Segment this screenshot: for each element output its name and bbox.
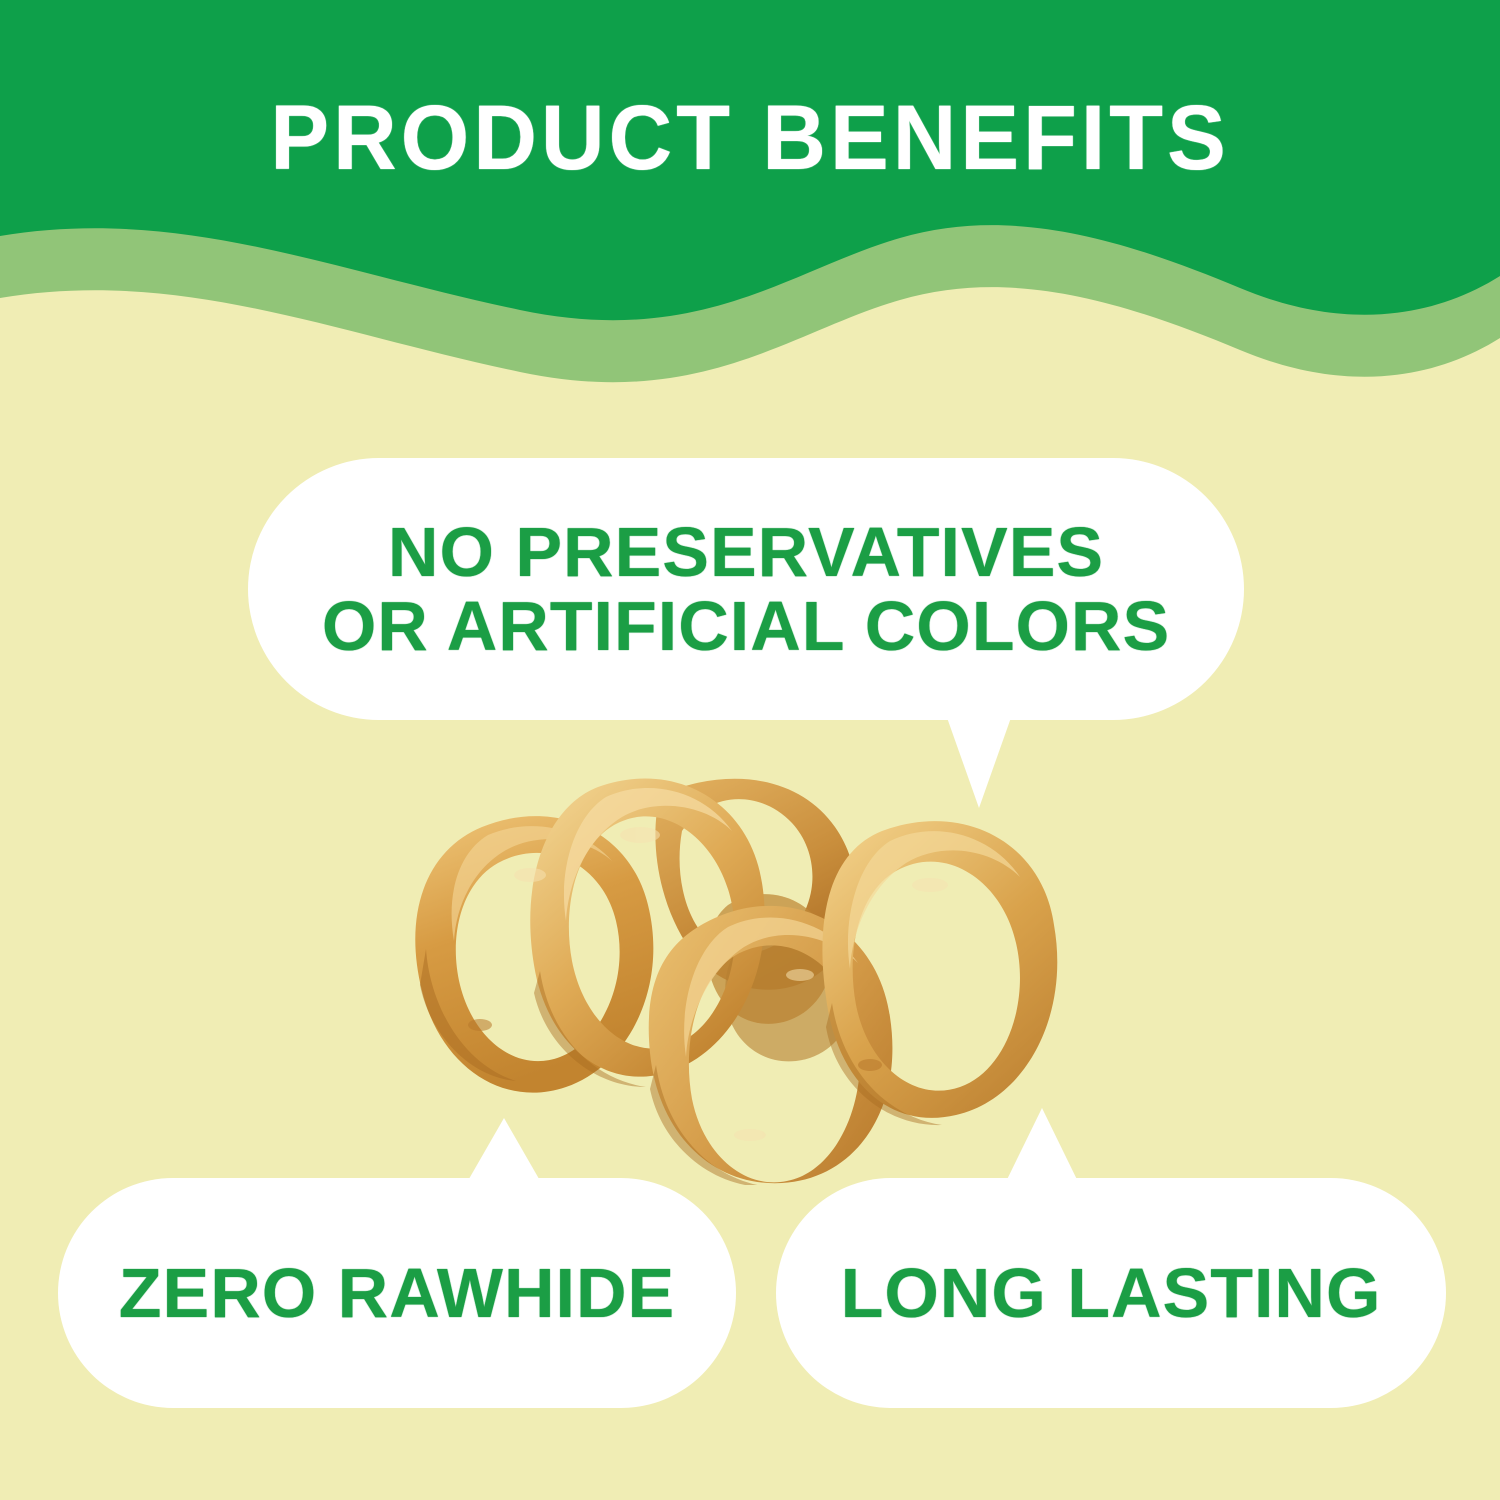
benefit-label-no-preservatives: NO PRESERVATIVES OR ARTIFICIAL COLORS (322, 515, 1170, 663)
page-title: PRODUCT BENEFITS (30, 92, 1470, 184)
product-benefits-infographic: PRODUCT BENEFITS (0, 0, 1500, 1500)
bubble-tail-no-preservatives (945, 712, 1013, 808)
benefit-bubble-long-lasting[interactable]: LONG LASTING (776, 1178, 1446, 1408)
benefit-bubble-zero-rawhide[interactable]: ZERO RAWHIDE (58, 1178, 736, 1408)
benefit-label-long-lasting: LONG LASTING (841, 1256, 1382, 1330)
benefit-label-zero-rawhide: ZERO RAWHIDE (119, 1256, 675, 1330)
header-wave-shapes (0, 0, 1500, 430)
benefit-bubble-no-preservatives[interactable]: NO PRESERVATIVES OR ARTIFICIAL COLORS (248, 458, 1244, 720)
header-band: PRODUCT BENEFITS (0, 0, 1500, 430)
